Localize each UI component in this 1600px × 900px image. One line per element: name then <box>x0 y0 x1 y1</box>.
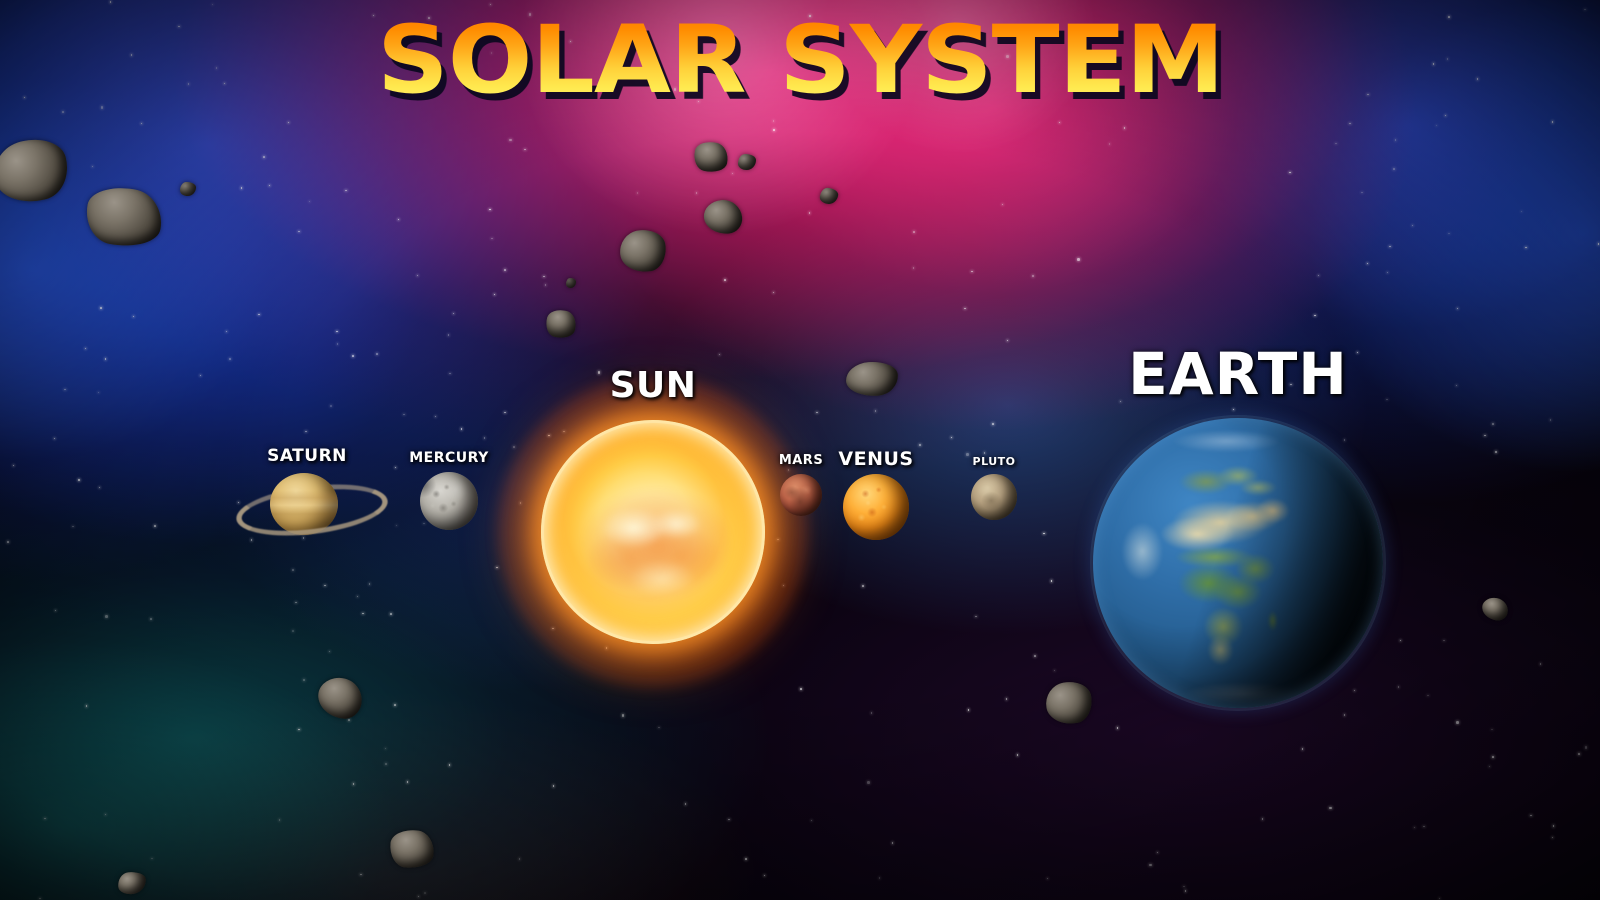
star <box>85 348 87 350</box>
star <box>1484 435 1486 437</box>
celestial-body-mercury[interactable]: MERCURY <box>420 472 478 530</box>
star <box>110 1 112 3</box>
star <box>719 354 721 356</box>
star <box>1047 878 1049 880</box>
star <box>1439 898 1441 900</box>
star <box>1051 580 1053 582</box>
star <box>913 267 915 269</box>
star <box>324 585 326 587</box>
star <box>1553 825 1555 827</box>
star <box>913 231 915 233</box>
star <box>685 803 687 805</box>
star <box>7 541 9 543</box>
star <box>150 618 152 620</box>
star <box>133 316 135 318</box>
asteroid <box>703 198 744 235</box>
star <box>1525 247 1527 249</box>
page-title-text: SOLAR SYSTEM <box>366 14 1234 108</box>
star <box>1578 753 1580 755</box>
star <box>418 896 420 898</box>
celestial-body-sun[interactable]: SUN <box>541 420 765 644</box>
star <box>992 423 994 425</box>
star <box>773 120 775 122</box>
star <box>1059 122 1061 124</box>
star <box>369 583 371 585</box>
star <box>269 185 271 187</box>
page-title: SOLAR SYSTEM <box>0 14 1600 108</box>
star <box>1302 748 1304 750</box>
star <box>1006 698 1008 700</box>
asteroid <box>819 187 839 205</box>
label-pluto: PLUTO <box>973 455 1016 468</box>
star <box>229 358 231 360</box>
star <box>330 405 332 407</box>
star <box>1492 423 1494 425</box>
star <box>385 763 387 765</box>
star <box>1289 172 1291 174</box>
sun-limb-rim <box>541 420 765 644</box>
star <box>100 307 102 309</box>
star <box>292 630 294 632</box>
star <box>1550 419 1552 421</box>
star <box>1361 192 1363 194</box>
star <box>62 111 64 113</box>
venus-surface-marks <box>843 474 909 540</box>
star <box>543 276 545 278</box>
asteroid <box>566 278 576 288</box>
star <box>553 785 555 787</box>
star <box>1183 886 1185 888</box>
star <box>1329 807 1332 810</box>
star <box>1398 686 1400 688</box>
star <box>1043 533 1045 535</box>
label-venus: VENUS <box>838 448 913 470</box>
star <box>263 156 265 158</box>
earth-atmosphere-glow <box>1090 415 1386 711</box>
star <box>1585 746 1588 749</box>
star <box>1262 818 1264 820</box>
star <box>303 679 305 681</box>
star <box>816 412 818 414</box>
label-mercury: MERCURY <box>409 450 489 466</box>
star <box>875 410 877 412</box>
asteroid <box>543 307 579 341</box>
star <box>637 192 639 194</box>
star <box>658 727 660 729</box>
star <box>622 714 625 717</box>
star <box>292 569 294 571</box>
star <box>298 231 300 233</box>
star <box>1552 121 1554 123</box>
star <box>200 375 202 377</box>
star <box>919 444 922 447</box>
star <box>461 428 463 430</box>
star <box>1436 125 1438 127</box>
star <box>390 613 392 615</box>
star <box>1443 640 1445 642</box>
label-earth: EARTH <box>1128 340 1348 408</box>
star <box>298 729 300 731</box>
star <box>1077 258 1080 261</box>
star <box>44 818 46 820</box>
star <box>1489 766 1491 768</box>
star <box>336 331 338 333</box>
star <box>435 416 437 418</box>
star <box>1521 211 1523 213</box>
star <box>1233 409 1235 411</box>
star <box>54 438 56 440</box>
star <box>417 275 419 277</box>
star <box>1117 727 1119 729</box>
star <box>1335 143 1337 145</box>
celestial-body-earth[interactable]: EARTH <box>1093 418 1383 708</box>
star <box>98 392 100 394</box>
star <box>809 212 811 214</box>
star <box>545 284 547 286</box>
star <box>424 892 426 894</box>
star <box>396 525 398 527</box>
star <box>407 781 409 783</box>
star <box>1412 225 1414 227</box>
star <box>1386 399 1388 401</box>
star <box>357 596 359 598</box>
star <box>449 764 451 766</box>
star <box>1314 315 1316 317</box>
star <box>394 704 396 706</box>
star <box>724 279 726 281</box>
celestial-body-venus[interactable]: VENUS <box>843 474 909 540</box>
star <box>984 452 986 454</box>
star <box>105 814 107 816</box>
star <box>1491 729 1493 731</box>
star <box>154 525 156 527</box>
star <box>879 877 881 879</box>
star <box>279 819 281 821</box>
asteroid <box>1480 596 1509 622</box>
star <box>1017 754 1019 756</box>
star <box>1427 695 1429 697</box>
star <box>453 313 455 315</box>
star <box>524 149 526 151</box>
star <box>241 187 243 189</box>
asteroid <box>180 182 196 196</box>
star <box>305 431 307 433</box>
star <box>519 858 521 860</box>
star <box>403 414 405 416</box>
star <box>1457 308 1459 310</box>
star <box>966 453 969 456</box>
mars-surface-marks <box>780 474 822 516</box>
star <box>1120 401 1122 403</box>
star <box>728 819 730 821</box>
star <box>360 874 362 876</box>
star <box>1124 127 1126 129</box>
star <box>1357 352 1359 354</box>
star <box>732 173 734 175</box>
asteroid <box>1043 678 1096 727</box>
asteroid <box>691 139 730 175</box>
star <box>353 783 355 785</box>
star <box>226 331 228 333</box>
star <box>494 294 496 296</box>
star <box>55 610 57 612</box>
star <box>745 858 747 860</box>
star <box>696 192 698 194</box>
star <box>348 719 350 721</box>
star <box>1002 204 1004 206</box>
star <box>484 437 486 439</box>
star <box>811 820 813 822</box>
star <box>376 353 378 355</box>
star <box>964 308 966 310</box>
star <box>92 166 94 168</box>
star <box>448 334 450 336</box>
star <box>78 479 81 482</box>
star <box>1414 827 1416 829</box>
star <box>1456 721 1459 724</box>
star <box>105 358 107 360</box>
asteroid <box>0 132 74 210</box>
star <box>504 269 506 271</box>
star <box>598 371 601 374</box>
star <box>975 616 977 618</box>
star <box>1032 275 1035 278</box>
star <box>398 219 400 221</box>
star <box>212 4 214 6</box>
celestial-body-saturn[interactable]: SATURN <box>240 470 374 540</box>
pluto-surface-marks <box>971 474 1017 520</box>
star <box>1387 272 1389 274</box>
celestial-body-pluto[interactable]: PLUTO <box>971 474 1017 520</box>
star <box>867 781 870 784</box>
star <box>1456 385 1458 387</box>
star <box>141 123 143 125</box>
star <box>13 465 15 467</box>
star <box>362 613 364 615</box>
star <box>862 585 864 587</box>
star <box>1400 640 1402 642</box>
asteroid <box>82 182 167 252</box>
star <box>1109 143 1111 145</box>
star <box>72 526 74 528</box>
star <box>99 487 101 489</box>
star <box>951 437 953 439</box>
star <box>1495 451 1498 454</box>
star <box>385 748 387 750</box>
star <box>1389 246 1391 248</box>
star <box>1318 275 1320 277</box>
star <box>329 651 331 653</box>
star <box>1149 864 1152 867</box>
star <box>86 705 88 707</box>
star <box>105 615 108 618</box>
star <box>151 858 153 860</box>
star <box>1157 852 1159 854</box>
star <box>773 129 775 131</box>
star <box>295 602 297 604</box>
star <box>971 271 973 273</box>
saturn-rings-front <box>234 477 391 543</box>
star <box>309 201 311 203</box>
star <box>1540 663 1542 665</box>
star <box>258 314 260 316</box>
star <box>764 875 766 877</box>
star <box>489 209 491 211</box>
star <box>1185 890 1187 892</box>
star <box>345 190 347 192</box>
star <box>1584 9 1586 11</box>
star <box>504 412 506 414</box>
star <box>1395 139 1397 141</box>
star <box>892 842 894 844</box>
star <box>449 373 451 375</box>
asteroid <box>315 675 364 721</box>
label-saturn: SATURN <box>267 446 347 466</box>
label-sun: SUN <box>610 365 697 406</box>
star <box>496 567 498 569</box>
star <box>1423 826 1425 828</box>
star <box>1552 837 1554 839</box>
label-mars: MARS <box>779 453 823 468</box>
star <box>871 712 873 714</box>
star <box>490 4 492 6</box>
star <box>1492 756 1494 758</box>
star <box>509 139 512 142</box>
star <box>238 502 240 504</box>
star <box>395 467 397 469</box>
star <box>1034 655 1036 657</box>
star <box>1367 263 1369 265</box>
asteroid <box>388 828 436 870</box>
mercury-craters <box>420 472 478 530</box>
star <box>352 355 354 357</box>
star <box>1445 115 1447 117</box>
star <box>64 389 66 391</box>
asteroid <box>117 871 147 896</box>
asteroid <box>738 154 756 170</box>
star <box>513 446 515 448</box>
star <box>1349 123 1351 125</box>
star <box>288 122 290 124</box>
asteroid <box>845 360 899 398</box>
star <box>1344 714 1346 716</box>
star <box>1054 670 1056 672</box>
star <box>1007 340 1009 342</box>
star <box>1530 815 1532 817</box>
star <box>968 709 970 711</box>
star <box>1393 168 1395 170</box>
star <box>39 898 41 900</box>
star <box>800 688 802 690</box>
star <box>1598 243 1600 245</box>
star <box>773 292 775 294</box>
star <box>1448 233 1450 235</box>
celestial-body-mars[interactable]: MARS <box>780 474 822 516</box>
star <box>337 343 339 345</box>
solar-system-scene: SOLAR SYSTEM SATURN MERCURY SUN MARS VEN… <box>0 0 1600 900</box>
star <box>491 238 493 240</box>
asteroid <box>617 227 668 275</box>
